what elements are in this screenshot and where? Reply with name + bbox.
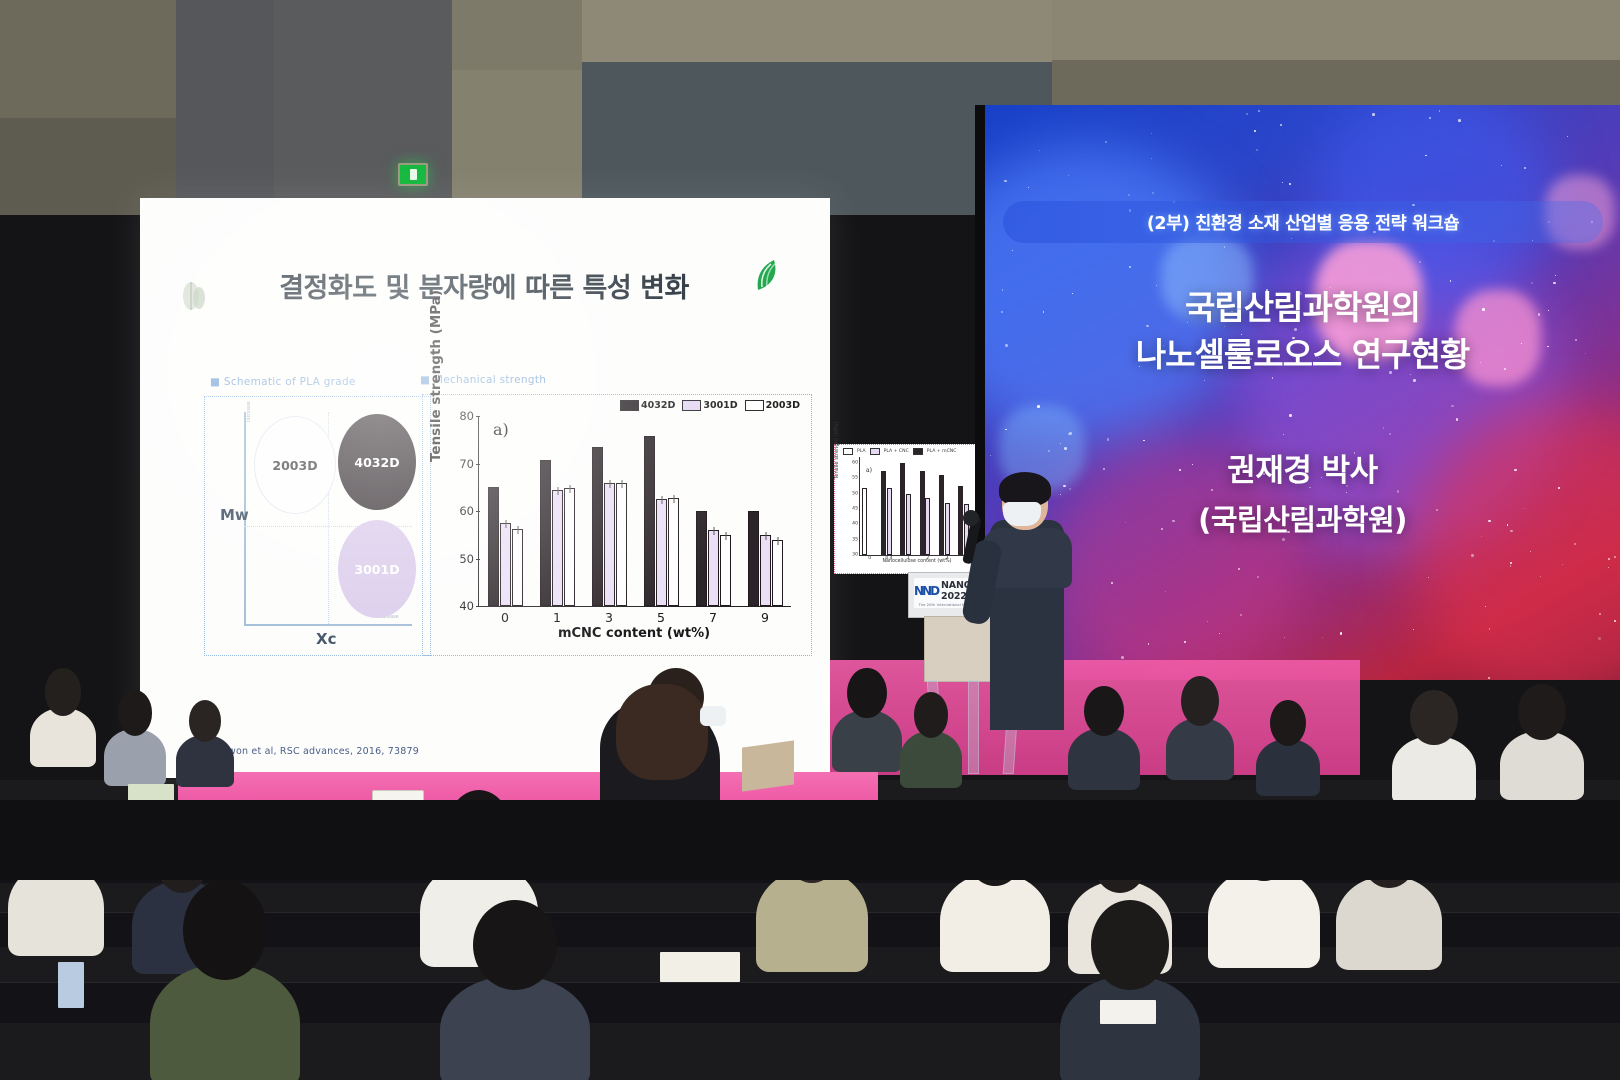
inset-bar (939, 475, 944, 555)
chart-bar (748, 511, 759, 606)
led-sparkle (1340, 632, 1342, 634)
error-bar (661, 496, 662, 504)
chart-bar (592, 447, 603, 606)
led-sparkle (1069, 432, 1071, 434)
led-speaker-name: 권재경 박사 (985, 445, 1620, 490)
chart-bar (616, 483, 627, 607)
error-bar (713, 527, 714, 535)
led-sparkle (1129, 266, 1131, 268)
led-sparkle (1060, 494, 1061, 495)
audience-member-body (900, 731, 962, 788)
speaker-face-mask (1003, 502, 1041, 526)
legend-label-2003d: 2003D (766, 400, 800, 411)
led-sparkle (1282, 182, 1283, 183)
audience-member-body (1256, 739, 1320, 796)
chart-x-tick: 9 (761, 610, 769, 625)
slide-title: 결정화도 및 분자량에 따른 특성 변화 (244, 266, 724, 305)
led-sparkle (1598, 637, 1601, 640)
led-sparkle (1372, 113, 1375, 116)
inset-y-axis-label: Tensile strength (MPa) (834, 422, 840, 479)
led-sparkle (1488, 677, 1489, 678)
presentation-slide: 결정화도 및 분자량에 따른 특성 변화 ■ Schematic of PLA … (140, 198, 830, 778)
led-sparkle (1413, 629, 1414, 630)
audience-member-body (756, 869, 868, 971)
led-sparkle (1289, 414, 1291, 416)
led-sparkle (1429, 117, 1431, 119)
led-sparkle (1012, 250, 1013, 251)
chart-panel-letter: a) (493, 420, 509, 439)
grade-blob-2003d: 2003D (254, 416, 336, 514)
inset-legend-swatch-pla-mcnc (913, 448, 923, 455)
chart-bar-group (748, 511, 783, 606)
inset-plot-area: a) 3035404550556000.41235 (859, 457, 976, 556)
schematic-y-hint: Increase (246, 401, 252, 422)
inset-y-tick: 40 (852, 522, 858, 527)
legend-swatch-3001d (682, 400, 701, 411)
chart-bar-group (540, 460, 575, 606)
chart-bar (564, 488, 575, 606)
chart-y-tick: 40 (459, 599, 474, 613)
error-bar (673, 495, 674, 503)
podium-logo-icon: NND (914, 584, 938, 598)
led-sparkle (1389, 433, 1391, 435)
led-sparkle (1608, 567, 1609, 568)
led-sparkle (1068, 175, 1069, 176)
legend-label-4032d: 4032D (641, 400, 675, 411)
led-sparkle (1614, 620, 1616, 622)
chart-plot-area: a) 4050607080013579 (478, 416, 791, 607)
audience-member-head (1518, 684, 1565, 740)
inset-legend-swatch-pla-cnc (870, 448, 880, 455)
led-sparkle (1450, 280, 1451, 281)
inset-bar-group (939, 475, 950, 555)
chart-bar-group (592, 447, 627, 606)
error-bar (569, 485, 570, 493)
audience-member-head (473, 900, 557, 990)
chart-x-axis-label: mCNC content (wt%) (478, 626, 790, 641)
speaker-hair (999, 472, 1051, 506)
notebook (660, 952, 740, 982)
chart-x-tick: 7 (709, 610, 717, 625)
audience-member-head (45, 668, 82, 716)
audience-member-body (150, 964, 300, 1080)
led-sparkle (1037, 405, 1040, 408)
inset-bar (920, 471, 925, 555)
document-sheet (1100, 1000, 1156, 1024)
chart-bar (604, 483, 615, 607)
chart-x-tick: 0 (501, 610, 509, 625)
audience-member-body (1500, 731, 1584, 800)
led-sparkle (1413, 379, 1416, 382)
audience-member-body (1166, 718, 1234, 780)
section-label-schematic: ■ Schematic of PLA grade (210, 376, 356, 388)
chart-bar (668, 498, 679, 606)
audience-member-body (832, 710, 902, 772)
chart-bar (720, 535, 731, 606)
led-session-banner: (2부) 친환경 소재 산업별 응용 전략 워크숍 (1003, 201, 1603, 243)
audience-member-body (940, 873, 1050, 972)
inset-bar (925, 498, 930, 555)
led-sparkle (1121, 656, 1124, 659)
chart-bar (512, 529, 523, 606)
error-bar (557, 487, 558, 495)
inset-bar (945, 503, 950, 555)
led-sparkle (1284, 637, 1285, 638)
grade-blob-4032d: 4032D (338, 414, 416, 510)
inset-legend-label-pla-cnc: PLA + CNC (884, 449, 909, 454)
inset-legend-swatch-pla (843, 448, 853, 455)
chart-x-tick: 1 (553, 610, 561, 625)
led-sparkle (1257, 576, 1259, 578)
led-sparkle (1004, 180, 1006, 182)
audience-member-body (1068, 728, 1140, 790)
chart-bar-group (696, 511, 731, 606)
led-sparkle (1524, 167, 1526, 169)
inset-y-tick: 60 (852, 461, 858, 466)
led-sparkle (1397, 490, 1400, 493)
inset-y-tick: 35 (852, 537, 858, 542)
led-presentation-title: 국립산림과학원의 나노셀룰로오스 연구현황 (985, 285, 1620, 379)
inset-bar-group (881, 471, 892, 555)
led-sparkle (1246, 113, 1248, 115)
led-speaker-affiliation: (국립산림과학원) (985, 497, 1620, 539)
audience-member-body (30, 708, 96, 767)
error-bar (765, 532, 766, 540)
led-sparkle (1039, 150, 1040, 151)
led-sparkle (1567, 136, 1569, 138)
chart-y-tick: 50 (459, 552, 474, 566)
tensile-strength-chart: 4032D 3001D 2003D Tensile strength (MPa)… (432, 400, 804, 650)
audience-member-body (1392, 736, 1476, 804)
chart-x-tick: 5 (657, 610, 665, 625)
water-bottle (58, 962, 84, 1008)
led-sparkle (1555, 275, 1556, 276)
chart-bar (772, 540, 783, 607)
inset-bar (900, 463, 905, 555)
error-bar (505, 520, 506, 528)
inset-legend: PLA PLA + CNC PLA + mCNC (843, 448, 956, 455)
error-bar (777, 537, 778, 545)
error-bar (517, 526, 518, 534)
chart-y-tick: 60 (459, 504, 474, 518)
chart-bar (696, 511, 707, 606)
audience-member-body (176, 735, 234, 787)
inset-bar-group (920, 471, 931, 555)
grade-blob-3001d: 3001D (338, 520, 416, 618)
audience-member-head (183, 880, 267, 980)
led-sparkle (1207, 621, 1208, 622)
chart-y-tick: 70 (459, 457, 474, 471)
led-sparkle (1471, 554, 1474, 557)
audience-member-head (189, 700, 221, 742)
chart-bar (500, 523, 511, 606)
chart-bar-group (644, 436, 679, 606)
laptop (742, 740, 794, 791)
audience-member-head (118, 690, 153, 736)
inset-y-tick: 55 (852, 476, 858, 481)
inset-bar (887, 488, 892, 555)
inset-bar-group (900, 463, 911, 555)
inset-bar-group (862, 488, 867, 555)
led-sparkle (1151, 133, 1152, 134)
led-sparkle (1105, 141, 1107, 143)
inset-y-tick: 45 (852, 507, 858, 512)
standing-attendee-hair (616, 684, 708, 780)
pla-grade-schematic: Increase Increase 2003D 4032D 3001D Mw X… (218, 408, 418, 640)
led-banner-text: (2부) 친환경 소재 산업별 응용 전략 워크숍 (1147, 210, 1459, 235)
led-sparkle (1458, 119, 1461, 122)
led-sparkle (1289, 183, 1291, 185)
audience-member-body (440, 976, 590, 1080)
organization-leaf-logo-icon (752, 258, 782, 294)
error-bar (621, 480, 622, 488)
led-title-line1: 국립산림과학원의 (985, 285, 1620, 332)
led-sparkle (1258, 110, 1259, 111)
legend-swatch-2003d (745, 400, 764, 411)
led-sparkle (1531, 282, 1533, 284)
led-title-line2: 나노셀룰로오스 연구현황 (985, 332, 1620, 379)
chart-y-axis-label: Tensile strength (MPa) (428, 290, 444, 462)
error-bar (609, 480, 610, 488)
led-sparkle (1280, 124, 1283, 127)
error-bar (725, 532, 726, 540)
projection-screen: 결정화도 및 분자량에 따른 특성 변화 ■ Schematic of PLA … (140, 198, 830, 778)
chart-bar (656, 499, 667, 606)
legend-swatch-4032d (620, 400, 639, 411)
chart-x-tick: 3 (605, 610, 613, 625)
led-wall: (2부) 친환경 소재 산업별 응용 전략 워크숍 국립산림과학원의 나노셀룰로… (985, 105, 1620, 680)
led-sparkle (1060, 443, 1061, 444)
chart-legend: 4032D 3001D 2003D (620, 400, 800, 411)
led-sparkle (1165, 591, 1166, 592)
audience-member-head (914, 692, 949, 738)
chart-bar (760, 535, 771, 606)
led-sparkle (1599, 613, 1601, 615)
audience-member-body (1336, 876, 1442, 970)
inset-panel-letter: a) (866, 467, 872, 474)
chart-bar (708, 530, 719, 606)
chart-bar (540, 460, 551, 606)
audience-member-head (1410, 690, 1457, 745)
schematic-x-axis-label: Xc (316, 630, 336, 648)
audience-member-head (1091, 900, 1169, 990)
audience-member-head (1084, 686, 1124, 736)
audience-member-head (1181, 676, 1219, 726)
led-sparkle (1143, 440, 1144, 441)
audience-member-head (847, 668, 886, 718)
inset-y-tick: 30 (852, 553, 858, 558)
audience-member-body (1060, 976, 1200, 1080)
inset-bar (906, 494, 911, 555)
chart-bar (552, 490, 563, 606)
led-sparkle (1151, 158, 1152, 159)
conference-hall-photo: 결정화도 및 분자량에 따른 특성 변화 ■ Schematic of PLA … (0, 0, 1620, 1080)
led-sparkle (1256, 149, 1258, 151)
standing-attendee-mask (700, 706, 726, 726)
schematic-y-axis-label: Mw (220, 506, 249, 524)
led-sparkle (1254, 130, 1256, 132)
inset-bar (862, 488, 867, 555)
chart-y-tick: 80 (459, 409, 474, 423)
inset-y-tick: 50 (852, 491, 858, 496)
inset-bar (881, 471, 886, 555)
audience-member-body (104, 729, 166, 786)
inset-x-axis-label: Nanocellulose content (wt%) (859, 559, 975, 564)
led-sparkle (1322, 637, 1323, 638)
inset-legend-label-pla: PLA (857, 449, 866, 454)
slide-decoration-icon (178, 276, 212, 314)
led-sparkle (1489, 628, 1490, 629)
chart-bar (488, 487, 499, 606)
inset-chart: PLA PLA + CNC PLA + mCNC Tensile strengt… (834, 444, 984, 574)
inset-legend-label-pla-mcnc: PLA + mCNC (927, 449, 957, 454)
chart-bar (644, 436, 655, 606)
chart-bar-group (488, 487, 523, 606)
exit-sign-icon (398, 163, 428, 186)
led-sparkle (1510, 562, 1512, 564)
led-sparkle (1428, 577, 1429, 578)
audience-member-body (1208, 868, 1320, 968)
led-sparkle (1553, 282, 1555, 284)
audience-member-head (1270, 700, 1306, 746)
microphone-head-icon (963, 510, 979, 526)
legend-label-3001d: 3001D (703, 400, 737, 411)
